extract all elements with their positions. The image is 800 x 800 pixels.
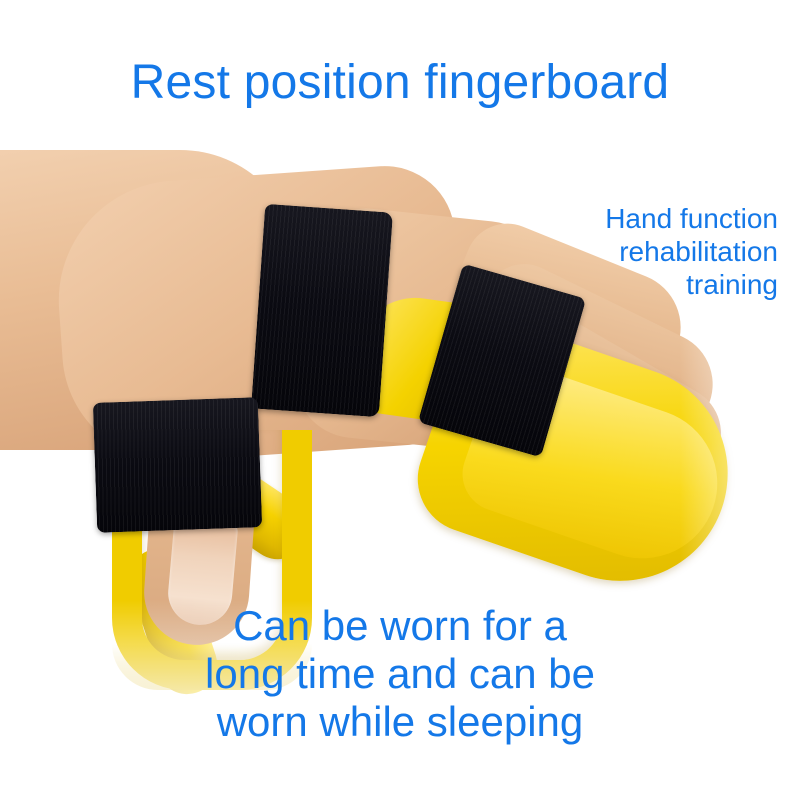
tagline-line-3: worn while sleeping [0,698,800,746]
tagline-line-2: long time and can be [0,650,800,698]
tagline-block: Can be worn for a long time and can be w… [0,602,800,746]
headline-text: Rest position fingerboard [0,58,800,108]
tagline-line-1: Can be worn for a [0,602,800,650]
velcro-strap-thumb [93,397,262,533]
subhead-line-1: Hand function [448,202,778,235]
product-marketing-image: Rest position fingerboard Hand function … [0,0,800,800]
velcro-strap-knuckle [251,204,393,417]
subhead-block: Hand function rehabilitation training [448,202,778,301]
subhead-line-3: training [448,268,778,301]
subhead-line-2: rehabilitation [448,235,778,268]
